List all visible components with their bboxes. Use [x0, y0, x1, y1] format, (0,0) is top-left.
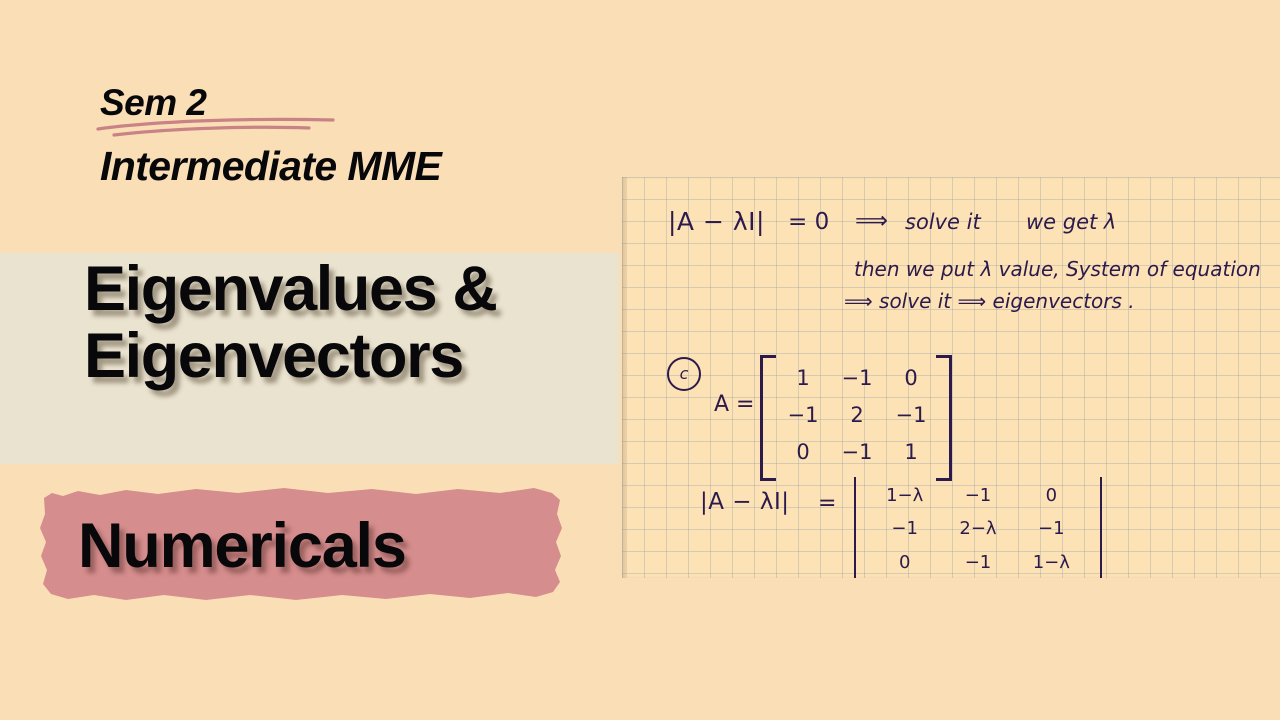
matrix-cell: −1 — [776, 396, 830, 433]
note-line-2: ⟹ solve it ⟹ eigenvectors . — [844, 289, 1135, 313]
matrix-a: 1 −1 0 −1 2 −1 0 −1 1 — [760, 355, 952, 475]
matrix-cell: 0 — [884, 359, 938, 396]
matrix-cell: −1 — [941, 479, 1014, 512]
matrix-cell: −1 — [941, 546, 1014, 578]
solve-it-note: solve it — [905, 210, 981, 234]
implies-arrow-icon: ⟹ — [855, 208, 888, 234]
determinant-bar-left-icon — [854, 477, 856, 578]
matrix-cell: −1 — [830, 359, 884, 396]
matrix-bracket-left-icon — [760, 355, 776, 481]
matrix-cell: −1 — [1015, 512, 1088, 545]
matrix-cell: 0 — [1015, 479, 1088, 512]
highlight-label: Numericals — [78, 510, 406, 582]
matrix-bracket-right-icon — [936, 355, 952, 481]
title-line-1: Eigenvalues & — [84, 254, 496, 324]
matrix-cell: 1−λ — [868, 479, 941, 512]
underline-stroke-decoration — [96, 115, 336, 137]
problem-label-circled: c — [667, 357, 701, 391]
title-line-2: Eigenvectors — [84, 323, 644, 390]
note-line-1: then we put λ value, System of equation — [854, 257, 1261, 281]
we-get-lambda-note: we get λ — [1026, 210, 1116, 234]
characteristic-determinant-label: |A − λI| — [700, 489, 790, 515]
characteristic-matrix-cells: 1−λ −1 0 −1 2−λ −1 0 −1 1−λ — [868, 479, 1088, 578]
matrix-cell: 0 — [868, 546, 941, 578]
notebook-panel: |A − λI| = 0 ⟹ solve it we get λ then we… — [622, 177, 1280, 578]
slide-canvas: Sem 2 Intermediate MME Eigenvalues & Eig… — [0, 0, 1280, 720]
char-equation-determinant: |A − λI| — [668, 207, 765, 236]
matrix-cell: 2 — [830, 396, 884, 433]
characteristic-matrix: 1−λ −1 0 −1 2−λ −1 0 −1 1−λ — [854, 477, 1102, 578]
matrix-a-cells: 1 −1 0 −1 2 −1 0 −1 1 — [776, 359, 938, 471]
matrix-cell: −1 — [868, 512, 941, 545]
matrix-cell: −1 — [884, 396, 938, 433]
characteristic-equals: = — [818, 491, 836, 516]
course-label: Intermediate MME — [100, 143, 441, 190]
determinant-bar-right-icon — [1100, 477, 1102, 578]
char-equation-equals: = 0 — [788, 209, 829, 235]
notebook-margin-edge — [622, 177, 627, 578]
page-title: Eigenvalues & Eigenvectors — [84, 256, 644, 391]
matrix-cell: 0 — [776, 434, 830, 471]
matrix-cell: 1 — [776, 359, 830, 396]
matrix-cell: 2−λ — [941, 512, 1014, 545]
matrix-cell: 1 — [884, 434, 938, 471]
matrix-cell: 1−λ — [1015, 546, 1088, 578]
matrix-a-equals-label: A = — [714, 392, 754, 417]
matrix-cell: −1 — [830, 434, 884, 471]
